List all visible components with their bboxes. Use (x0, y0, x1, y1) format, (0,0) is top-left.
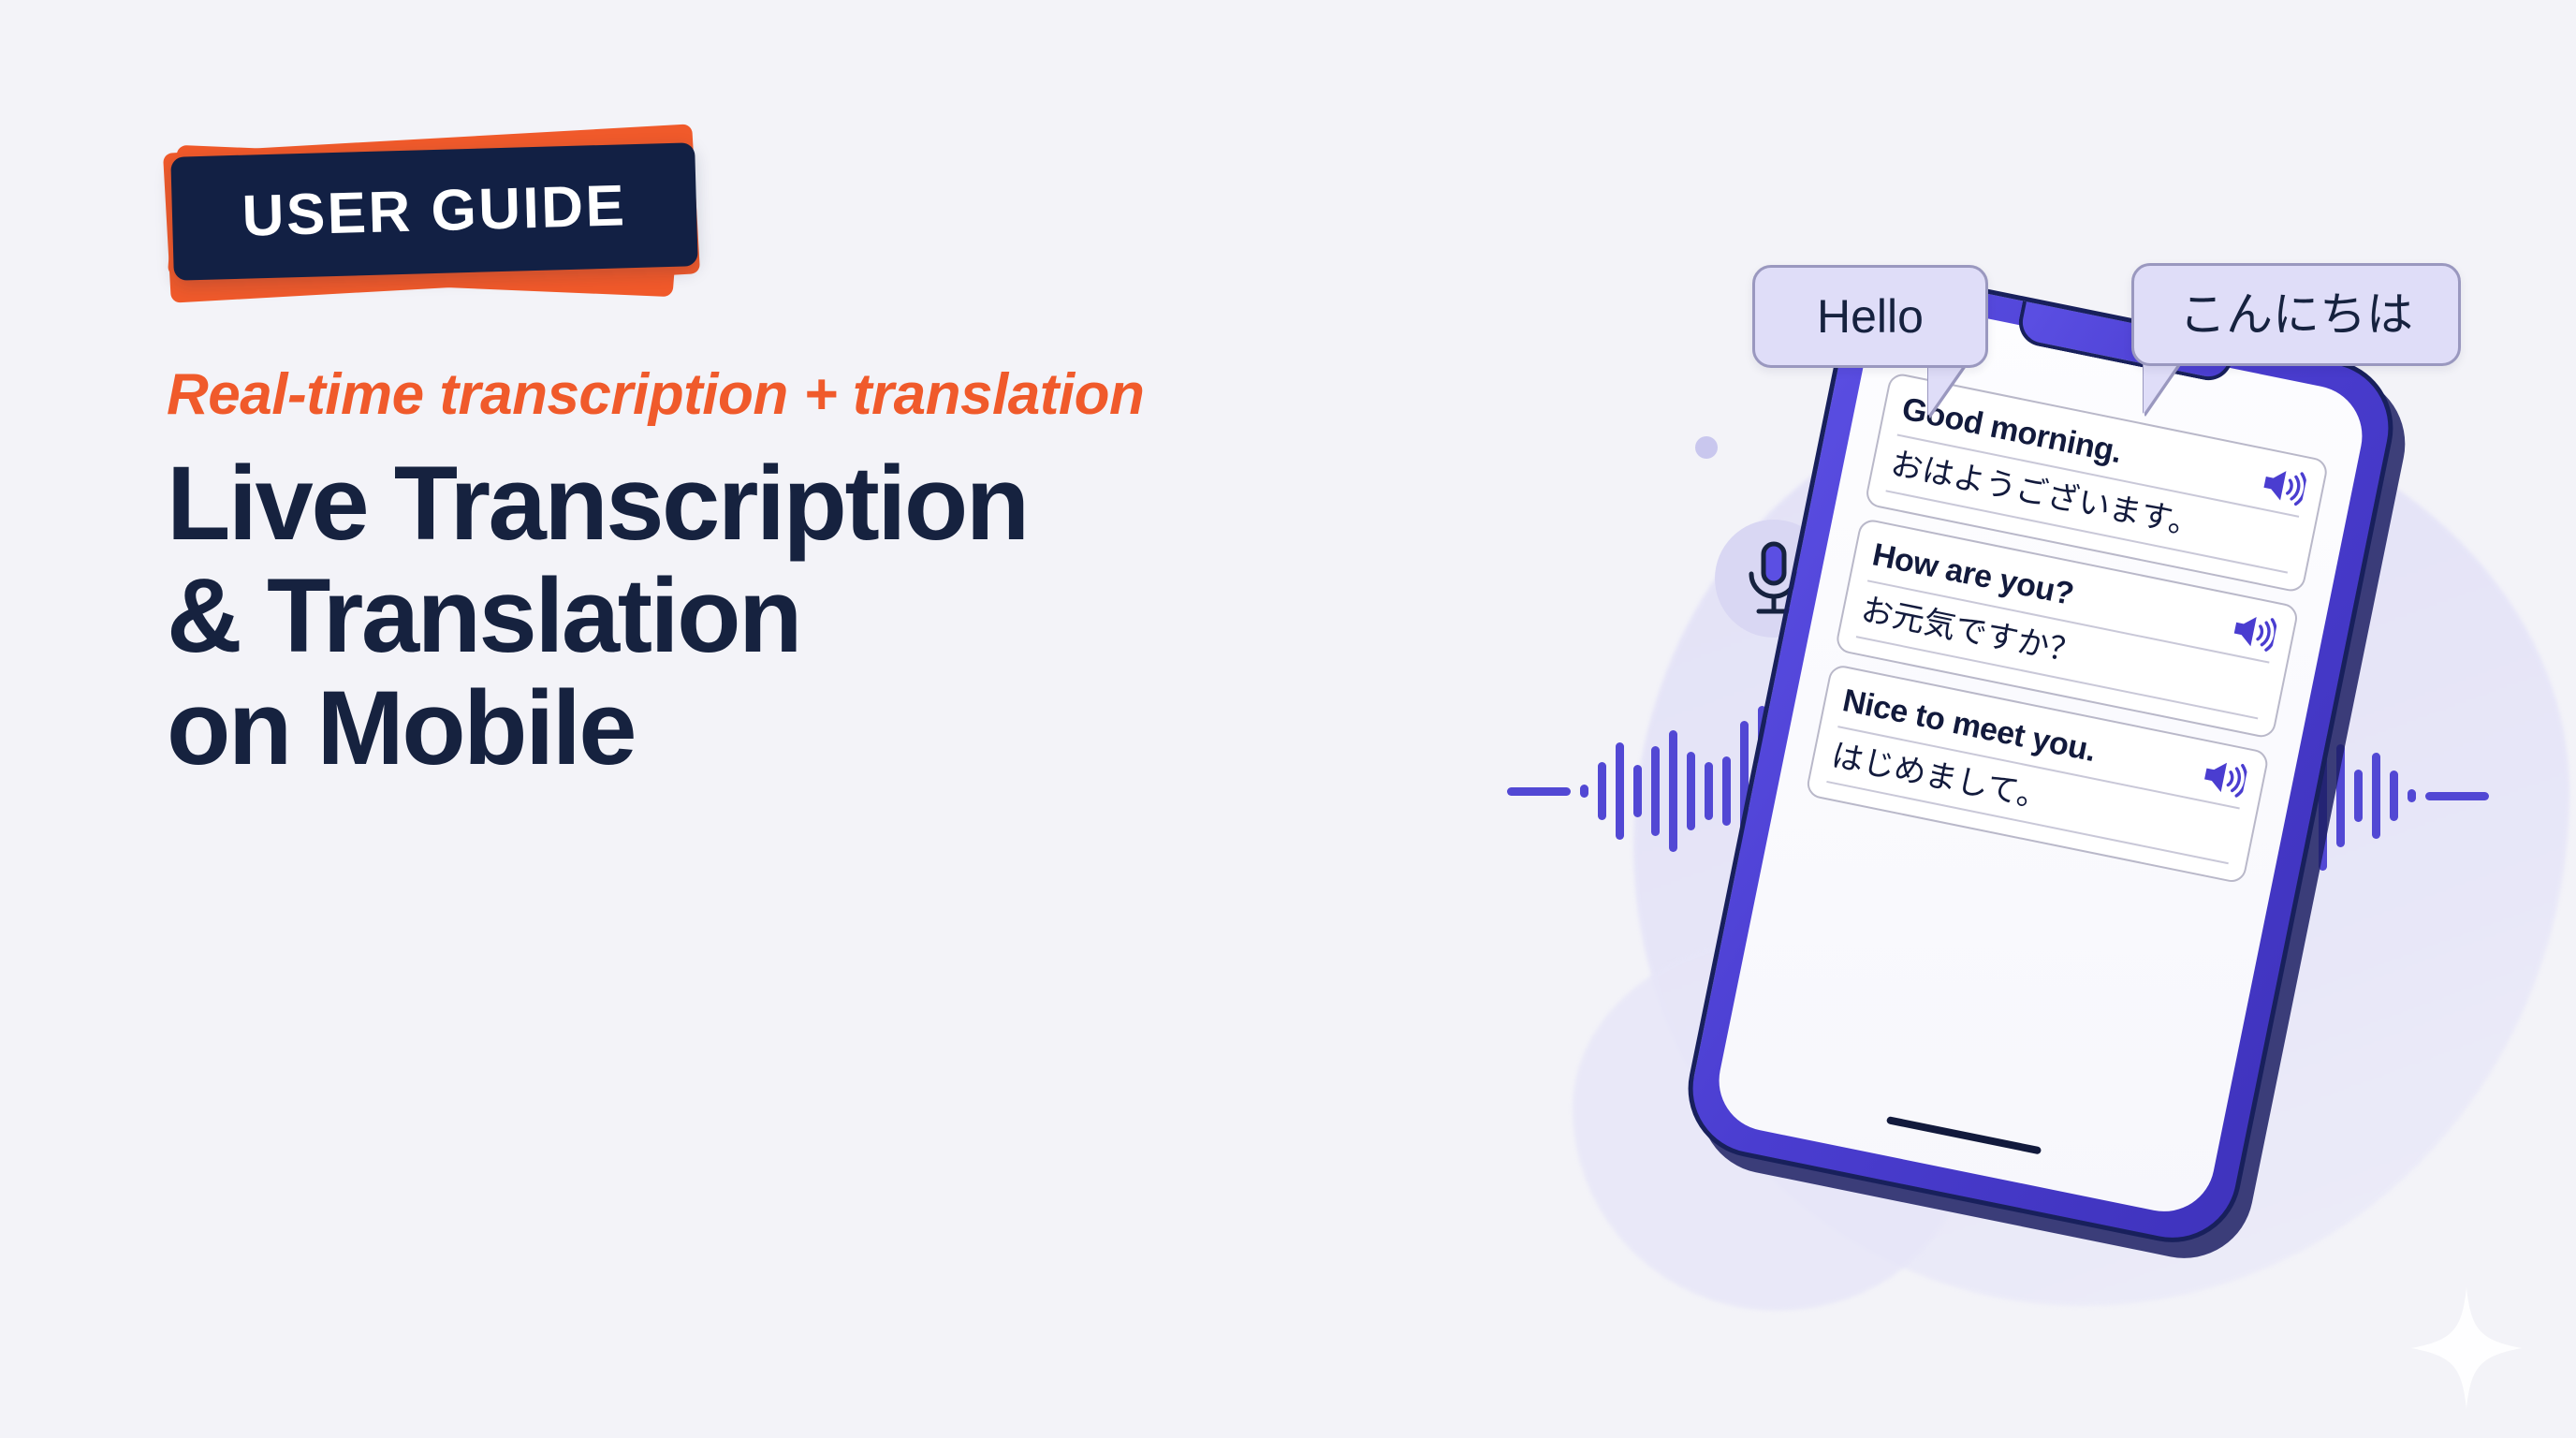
speech-bubble-tail-konnichiwa (2144, 359, 2181, 414)
waveform-bar (1598, 762, 1606, 820)
speaker-volume-icon[interactable] (2229, 609, 2278, 653)
speaker-volume-icon[interactable] (2259, 463, 2308, 508)
waveform-bar (2408, 789, 2416, 802)
speaker-volume-icon[interactable] (2199, 755, 2248, 800)
waveform-lead-line (1507, 787, 1571, 796)
speech-bubble-konnichiwa-text: こんにちは (2179, 291, 2413, 338)
waveform-bar (2354, 770, 2363, 822)
waveform-bar (1687, 752, 1695, 830)
waveform-bar (1705, 762, 1713, 820)
hero-eyebrow: Real-time transcription + translation (167, 363, 1702, 427)
home-indicator (1886, 1116, 2042, 1154)
badge-plate: USER GUIDE (170, 142, 697, 281)
speech-bubble-konnichiwa: こんにちは (2131, 263, 2461, 366)
speech-bubble-hello-text: Hello (1817, 293, 1924, 340)
waveform-bar (1616, 742, 1624, 840)
waveform-lead-line (2425, 792, 2489, 800)
waveform-bar (1651, 746, 1660, 836)
waveform-bar (1633, 765, 1642, 817)
play-audio-button[interactable] (2229, 609, 2278, 653)
play-audio-button[interactable] (2259, 463, 2308, 508)
badge-label: USER GUIDE (241, 177, 627, 245)
waveform-bar (1580, 785, 1588, 798)
headline-line-3: on Mobile (167, 672, 1702, 785)
hero-text-column: USER GUIDE Real-time transcription + tra… (167, 122, 1702, 785)
play-audio-button[interactable] (2199, 755, 2248, 800)
speech-bubble-hello: Hello (1752, 265, 1988, 368)
headline-line-2: & Translation (167, 560, 1702, 672)
waveform-bar (1669, 730, 1677, 852)
waveform-bar (2390, 770, 2398, 821)
waveform-bar (1722, 756, 1731, 826)
sparkle-icon (2410, 1287, 2523, 1409)
translation-card-list: Good morning.おはようございます。How are you?お元気です… (1805, 372, 2330, 885)
waveform-bar (2372, 753, 2380, 839)
user-guide-badge: USER GUIDE (167, 122, 710, 309)
page-title: Live Transcription & Translation on Mobi… (167, 448, 1702, 784)
poster-canvas: USER GUIDE Real-time transcription + tra… (0, 0, 2576, 1438)
headline-line-1: Live Transcription (167, 448, 1702, 560)
speech-bubble-tail-hello (1928, 359, 1968, 416)
